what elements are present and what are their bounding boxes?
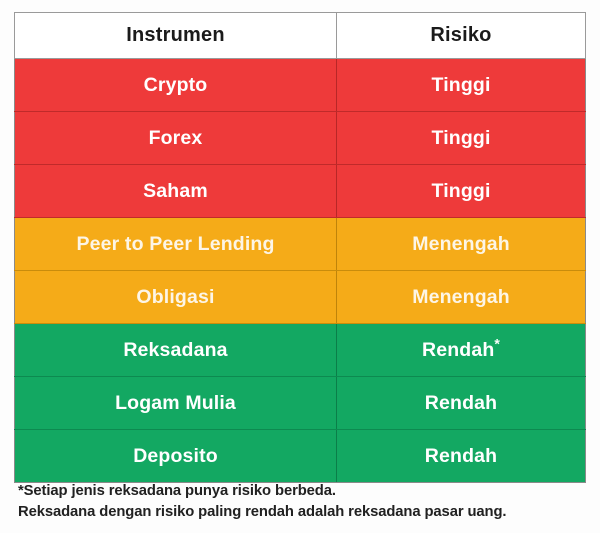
- risk-label: Menengah: [412, 233, 510, 255]
- footnote: *Setiap jenis reksadana punya risiko ber…: [18, 481, 584, 523]
- footnote-line-1: *Setiap jenis reksadana punya risiko ber…: [18, 481, 584, 502]
- cell-instrument: Deposito: [15, 430, 337, 483]
- table-row: CryptoTinggi: [15, 59, 586, 112]
- cell-risk: Rendah: [337, 377, 586, 430]
- cell-instrument: Obligasi: [15, 271, 337, 324]
- column-header-instrumen: Instrumen: [15, 13, 337, 59]
- risk-label: Rendah: [425, 392, 497, 414]
- table-row: DepositoRendah: [15, 430, 586, 483]
- column-header-risiko: Risiko: [337, 13, 586, 59]
- risk-label: Rendah: [422, 339, 494, 361]
- risk-label: Tinggi: [431, 74, 490, 96]
- risk-label: Tinggi: [431, 127, 490, 149]
- risk-infographic: Instrumen Risiko CryptoTinggiForexTinggi…: [0, 0, 600, 533]
- cell-risk: Rendah: [337, 430, 586, 483]
- risk-label: Rendah: [425, 445, 497, 467]
- table-row: ReksadanaRendah*: [15, 324, 586, 377]
- risk-label: Menengah: [412, 286, 510, 308]
- table-row: ObligasiMenengah: [15, 271, 586, 324]
- cell-risk: Tinggi: [337, 112, 586, 165]
- cell-instrument: Logam Mulia: [15, 377, 337, 430]
- cell-instrument: Peer to Peer Lending: [15, 218, 337, 271]
- cell-risk: Menengah: [337, 218, 586, 271]
- cell-risk: Rendah*: [337, 324, 586, 377]
- risk-footnote-marker: *: [494, 335, 500, 351]
- cell-risk: Tinggi: [337, 59, 586, 112]
- table-header-row: Instrumen Risiko: [15, 13, 586, 59]
- table-row: ForexTinggi: [15, 112, 586, 165]
- investment-risk-table: Instrumen Risiko CryptoTinggiForexTinggi…: [14, 12, 586, 483]
- cell-risk: Tinggi: [337, 165, 586, 218]
- table-row: Logam MuliaRendah: [15, 377, 586, 430]
- cell-instrument: Crypto: [15, 59, 337, 112]
- cell-risk: Menengah: [337, 271, 586, 324]
- risk-label: Tinggi: [431, 180, 490, 202]
- footnote-line-2: Reksadana dengan risiko paling rendah ad…: [18, 502, 584, 523]
- cell-instrument: Reksadana: [15, 324, 337, 377]
- cell-instrument: Saham: [15, 165, 337, 218]
- table-row: Peer to Peer LendingMenengah: [15, 218, 586, 271]
- table-header: Instrumen Risiko: [15, 13, 586, 59]
- cell-instrument: Forex: [15, 112, 337, 165]
- table-row: SahamTinggi: [15, 165, 586, 218]
- table-body: CryptoTinggiForexTinggiSahamTinggiPeer t…: [15, 59, 586, 483]
